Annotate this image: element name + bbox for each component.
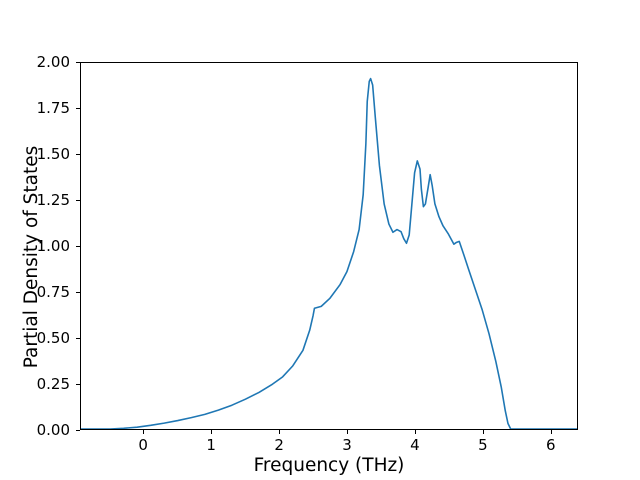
dos-curve-line <box>81 79 577 429</box>
x-tick-label: 5 <box>463 436 503 454</box>
dos-curve-svg <box>81 63 577 429</box>
y-tick-label: 0.50 <box>14 330 70 346</box>
x-tick-mark <box>279 430 280 434</box>
x-tick-label: 2 <box>259 436 299 454</box>
x-tick-label: 0 <box>123 436 163 454</box>
y-tick-label: 0.00 <box>14 422 70 438</box>
x-tick-label: 6 <box>531 436 571 454</box>
x-tick-label: 1 <box>191 436 231 454</box>
y-tick-mark <box>76 430 80 431</box>
figure-canvas: Partial Density of States 01234560.000.2… <box>0 0 640 480</box>
x-tick-mark <box>483 430 484 434</box>
x-tick-mark <box>211 430 212 434</box>
x-tick-mark <box>347 430 348 434</box>
x-axis-label: Frequency (THz) <box>80 455 578 476</box>
x-tick-label: 3 <box>327 436 367 454</box>
plot-area <box>80 62 578 430</box>
y-tick-label: 1.50 <box>14 146 70 162</box>
y-tick-label: 1.75 <box>14 100 70 116</box>
x-tick-mark <box>415 430 416 434</box>
y-tick-label: 1.25 <box>14 192 70 208</box>
x-tick-label: 4 <box>395 436 435 454</box>
x-tick-mark <box>143 430 144 434</box>
y-tick-label: 1.00 <box>14 238 70 254</box>
x-tick-mark <box>551 430 552 434</box>
y-tick-label: 0.25 <box>14 376 70 392</box>
y-tick-label: 0.75 <box>14 284 70 300</box>
y-tick-label: 2.00 <box>14 54 70 70</box>
